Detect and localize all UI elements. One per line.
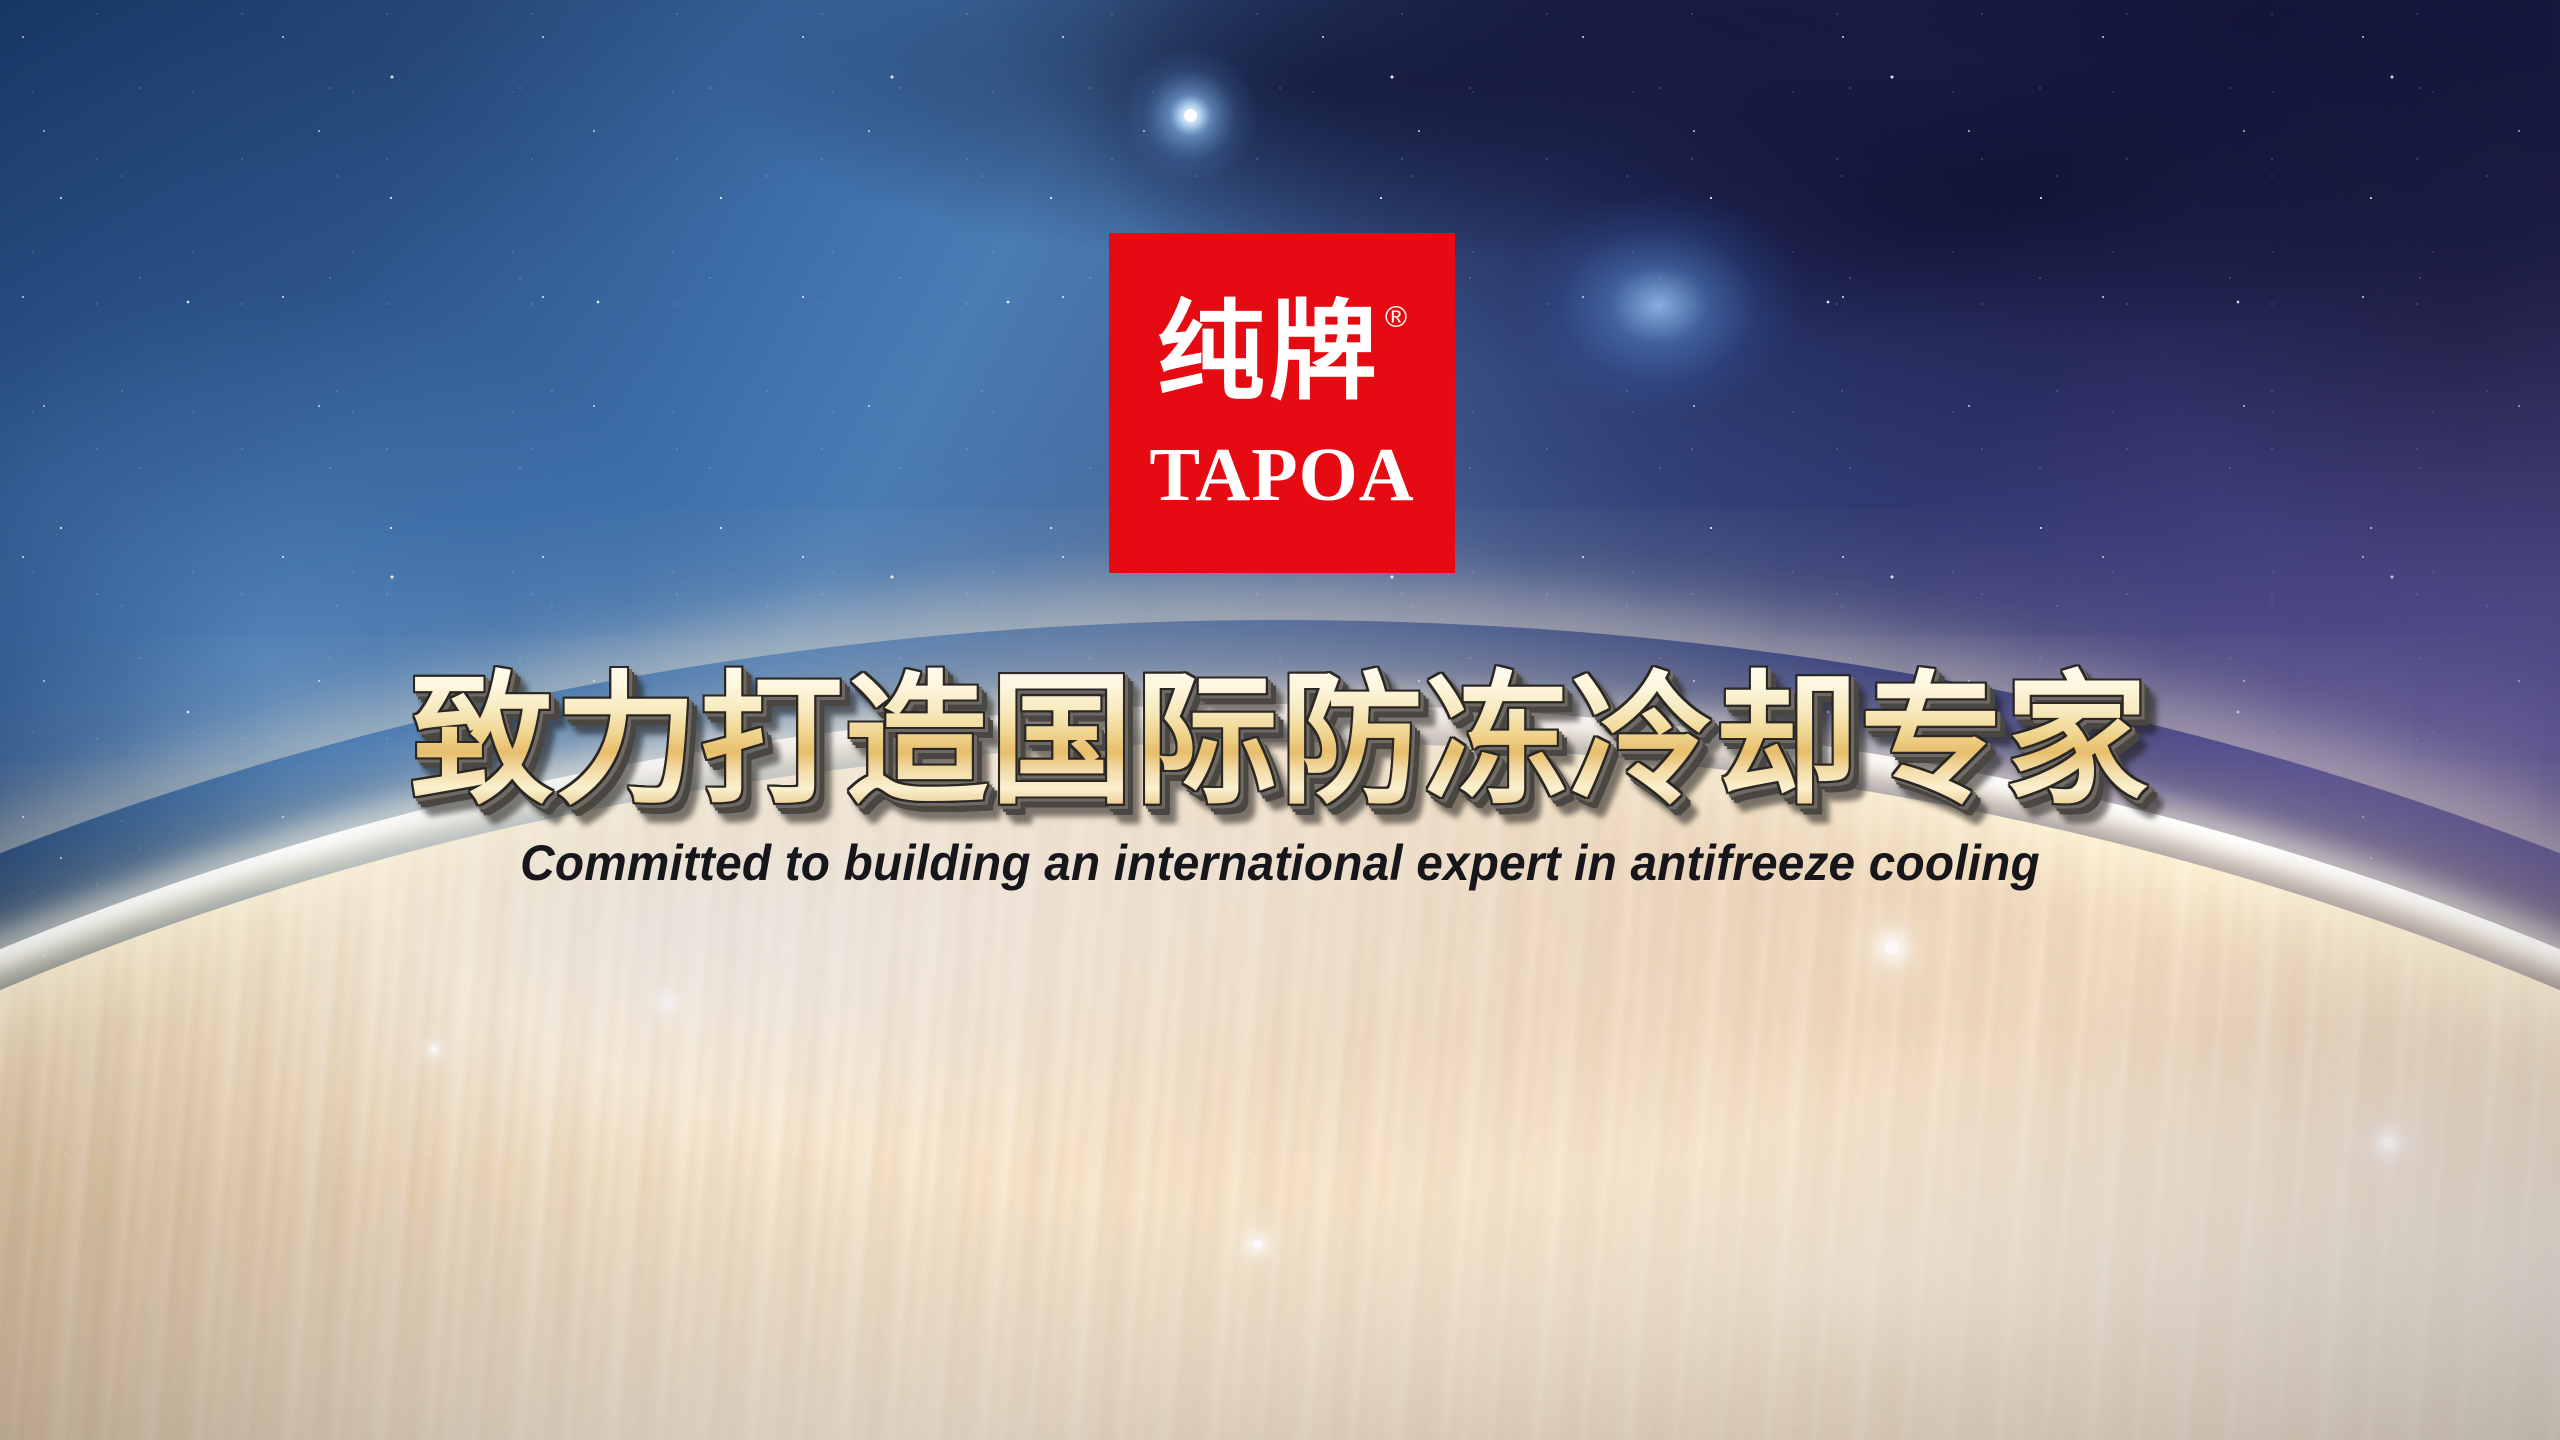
brand-logo[interactable]: 纯牌 ® TAPOA — [1109, 233, 1455, 573]
page-title: 致力打造国际防冻冷却专家 — [0, 662, 2560, 820]
lens-sparkle-icon — [663, 997, 673, 1007]
logo-latin-text: TAPOA — [1149, 435, 1414, 515]
lens-sparkle-icon — [2383, 1138, 2394, 1149]
lens-sparkle-icon — [1253, 1240, 1262, 1249]
headline-block: 致力打造国际防冻冷却专家 Committed to building an in… — [0, 662, 2560, 892]
hero-banner: 纯牌 ® TAPOA 致力打造国际防冻冷却专家 Committed to bui… — [0, 0, 2560, 1440]
lens-sparkle-icon — [1885, 940, 1899, 954]
registered-mark-icon: ® — [1385, 301, 1407, 335]
lens-sparkle-icon — [430, 1046, 437, 1053]
logo-chinese-text: 纯牌 — [1157, 297, 1381, 409]
bright-star-icon — [1184, 109, 1197, 122]
logo-chinese-row: 纯牌 ® — [1109, 297, 1455, 427]
page-subtitle: Committed to building an international e… — [58, 834, 2503, 892]
